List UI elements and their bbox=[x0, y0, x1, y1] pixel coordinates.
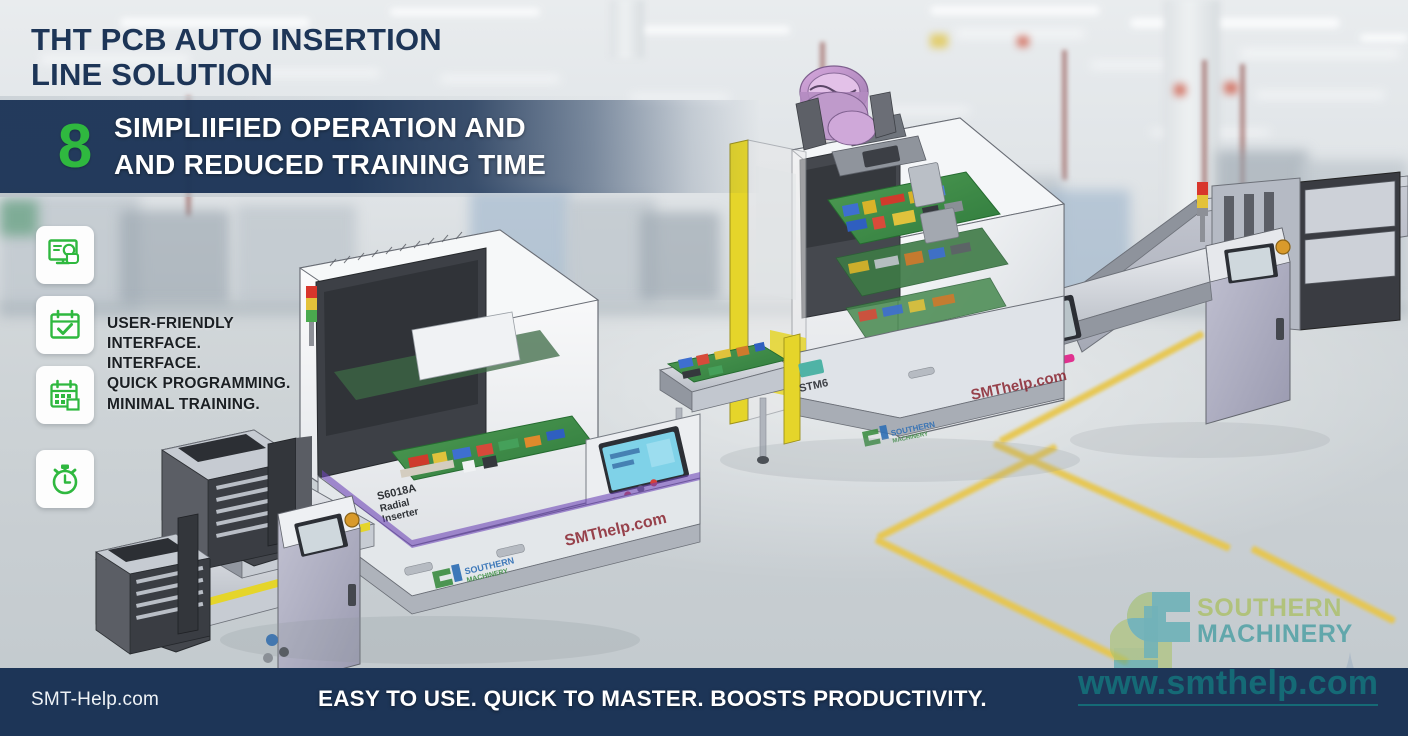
footer-url-watermark[interactable]: www.smthelp.com bbox=[1078, 664, 1378, 706]
footer-tagline: EASY TO USE. QUICK TO MASTER. BOOSTS PRO… bbox=[318, 686, 987, 712]
stopwatch-icon-tile[interactable] bbox=[36, 450, 94, 508]
banner-headline-line-1: SIMPLIIFIED OPERATION AND bbox=[114, 110, 546, 147]
feature-icon-list bbox=[36, 226, 94, 520]
feature-line-1: USER-FRIENDLY bbox=[107, 314, 437, 334]
feature-line-5: MINIMAL TRAINING. bbox=[107, 395, 437, 415]
logo-text-line-1: SOUTHERN bbox=[1197, 596, 1353, 622]
stopwatch-icon bbox=[48, 462, 82, 496]
calendar-check-icon bbox=[48, 308, 82, 342]
page-title: THT PCB AUTO INSERTION LINE SOLUTION bbox=[31, 22, 651, 93]
title-line-1: THT PCB AUTO INSERTION bbox=[31, 22, 651, 57]
feature-banner: 8 SIMPLIIFIED OPERATION AND AND REDUCED … bbox=[0, 100, 760, 193]
calendar-check-icon-tile[interactable] bbox=[36, 296, 94, 354]
feature-line-2: INTERFACE. bbox=[107, 334, 437, 354]
calendar-grid-icon-tile[interactable] bbox=[36, 366, 94, 424]
touchscreen-icon bbox=[47, 238, 83, 272]
banner-headline-line-2: AND REDUCED TRAINING TIME bbox=[114, 147, 546, 184]
slide-root: SMThelp.com SOUTHERN MACHINERY bbox=[0, 0, 1408, 736]
machine-center-inserter: SMThelp.com SOUTHERN MACHINERY bbox=[730, 66, 1082, 451]
feature-line-4: QUICK PROGRAMMING. bbox=[107, 374, 437, 394]
touchscreen-icon-tile[interactable] bbox=[36, 226, 94, 284]
title-line-2: LINE SOLUTION bbox=[31, 57, 651, 92]
feature-text-block: USER-FRIENDLY INTERFACE. INTERFACE. QUIC… bbox=[107, 314, 437, 415]
feature-line-3: INTERFACE. bbox=[107, 354, 437, 374]
calendar-grid-icon bbox=[48, 378, 82, 412]
logo-text-line-2: MACHINERY bbox=[1197, 622, 1353, 648]
banner-headline: SIMPLIIFIED OPERATION AND AND REDUCED TR… bbox=[114, 110, 546, 184]
banner-number: 8 bbox=[44, 116, 106, 178]
southern-machinery-logo-text: SOUTHERN MACHINERY bbox=[1197, 596, 1353, 647]
footer-brand: SMT-Help.com bbox=[31, 689, 159, 711]
